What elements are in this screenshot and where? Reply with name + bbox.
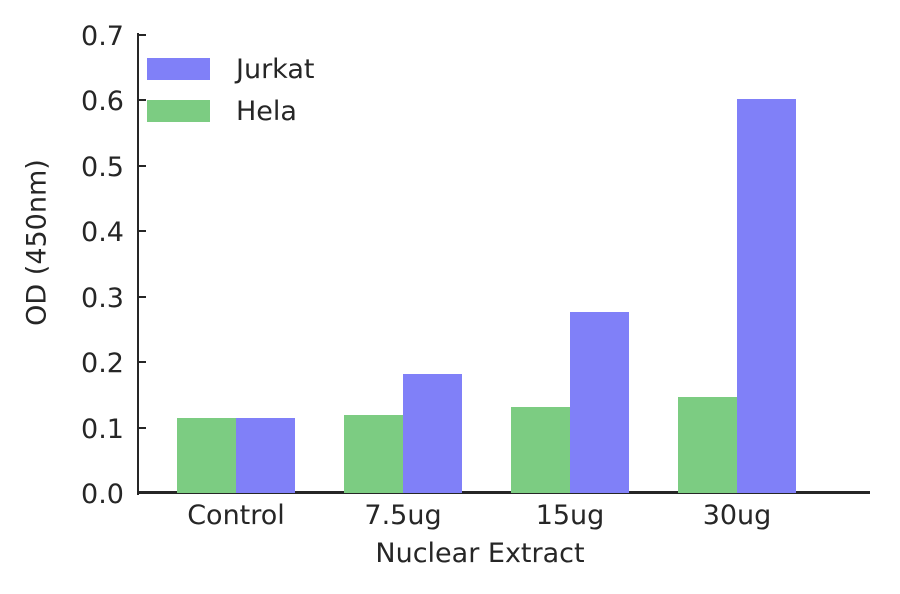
bar-hela-control: [177, 418, 236, 493]
bar-chart-figure: 0.00.10.20.30.40.50.60.7 OD (450nm) Cont…: [0, 0, 900, 594]
legend-label-jurkat: Jurkat: [236, 54, 314, 85]
x-tick-label-7.5ug: 7.5ug: [364, 500, 441, 531]
bar-jurkat-7.5ug: [403, 374, 462, 493]
legend-swatch-jurkat: [147, 58, 210, 80]
y-tick-label: 0.1: [81, 414, 124, 445]
bar-hela-15ug: [511, 407, 570, 493]
bar-jurkat-15ug: [570, 312, 629, 493]
y-axis-label: OD (450nm): [22, 43, 53, 443]
legend-label-hela: Hela: [236, 96, 297, 127]
y-tick-label: 0.5: [81, 152, 124, 183]
x-tick-label-15ug: 15ug: [536, 500, 605, 531]
x-tick-label-30ug: 30ug: [703, 500, 772, 531]
legend-item-jurkat: Jurkat: [147, 48, 314, 90]
y-tick-label: 0.4: [81, 217, 124, 248]
x-axis-label: Nuclear Extract: [0, 538, 900, 569]
legend: JurkatHela: [147, 48, 314, 132]
bar-hela-30ug: [678, 397, 737, 493]
bar-jurkat-30ug: [737, 99, 796, 493]
legend-swatch-hela: [147, 100, 210, 122]
y-tick-label: 0.3: [81, 283, 124, 314]
y-tick-label: 0.2: [81, 348, 124, 379]
x-tick-label-control: Control: [187, 500, 285, 531]
x-axis-label-text: Nuclear Extract: [375, 538, 584, 569]
bar-jurkat-control: [236, 418, 295, 493]
bar-hela-7.5ug: [344, 415, 403, 494]
y-tick-label: 0.6: [81, 86, 124, 117]
legend-item-hela: Hela: [147, 90, 314, 132]
y-tick-label: 0.7: [81, 21, 124, 52]
y-tick-label: 0.0: [81, 479, 124, 510]
